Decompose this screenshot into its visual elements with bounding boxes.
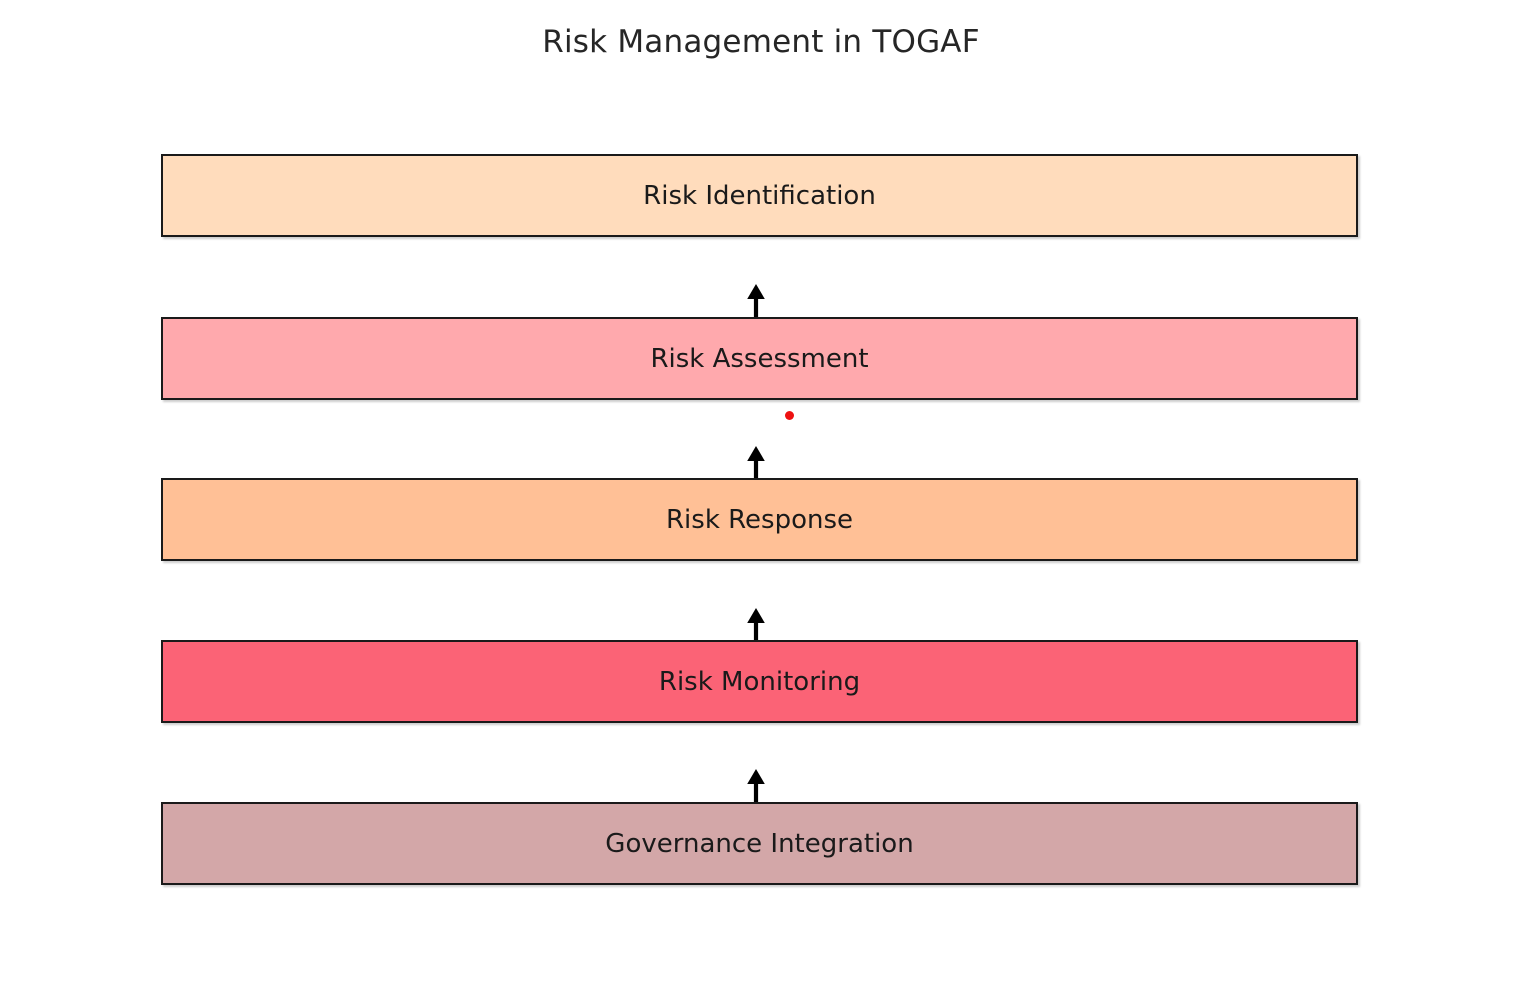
stage-box-governance-integration[interactable]: Governance Integration	[161, 802, 1358, 885]
flow-arrow-up-icon	[743, 284, 769, 317]
page-title: Risk Management in TOGAF	[0, 24, 1522, 60]
stage-label: Governance Integration	[605, 831, 913, 857]
flow-arrow-up-icon	[743, 769, 769, 802]
stage-label: Risk Response	[666, 507, 853, 533]
diagram-canvas: Risk Management in TOGAF Risk Identifica…	[0, 0, 1522, 997]
stage-box-risk-response[interactable]: Risk Response	[161, 478, 1358, 561]
stage-box-risk-monitoring[interactable]: Risk Monitoring	[161, 640, 1358, 723]
stage-box-risk-assessment[interactable]: Risk Assessment	[161, 317, 1358, 400]
stage-label: Risk Monitoring	[659, 669, 860, 695]
stage-label: Risk Assessment	[650, 346, 868, 372]
flow-arrow-up-icon	[743, 446, 769, 478]
stage-label: Risk Identification	[643, 183, 876, 209]
flow-arrow-up-icon	[743, 608, 769, 640]
stage-box-risk-identification[interactable]: Risk Identification	[161, 154, 1358, 237]
cursor-dot-marker	[785, 411, 794, 420]
